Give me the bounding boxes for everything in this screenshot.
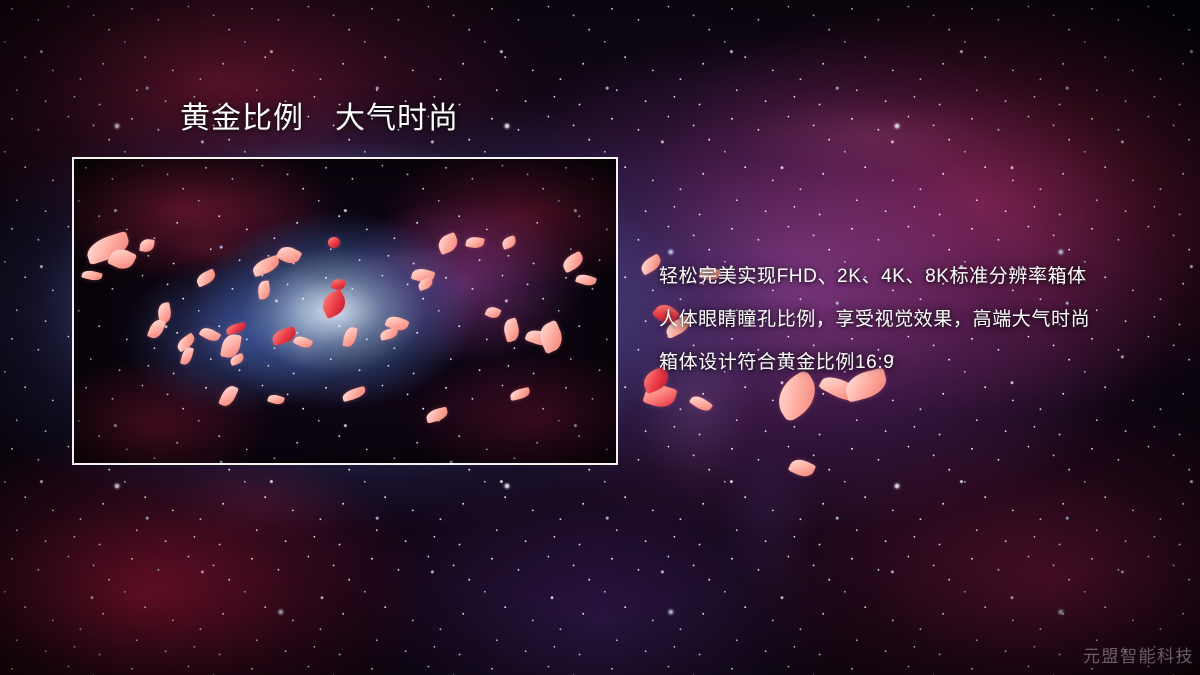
display-frame-16x9[interactable] — [72, 157, 618, 465]
frame-vignette — [74, 159, 616, 463]
body-line-2: 人体眼睛瞳孔比例，享受视觉效果，高端大气时尚 — [659, 298, 1159, 341]
body-line-1: 轻松完美实现FHD、2K、4K、8K标准分辨率箱体 — [659, 255, 1159, 298]
body-copy-block: 轻松完美实现FHD、2K、4K、8K标准分辨率箱体 人体眼睛瞳孔比例，享受视觉效… — [659, 255, 1159, 384]
petal-decoration — [328, 237, 340, 248]
presentation-slide: 黄金比例 大气时尚 轻松完美实现FHD、2K、4K、8K标准分辨率箱体 人体眼睛… — [0, 0, 1200, 675]
slide-headline: 黄金比例 大气时尚 — [180, 101, 459, 137]
company-watermark: 元盟智能科技 — [1083, 642, 1194, 667]
body-line-3: 箱体设计符合黄金比例16:9 — [659, 341, 1159, 384]
